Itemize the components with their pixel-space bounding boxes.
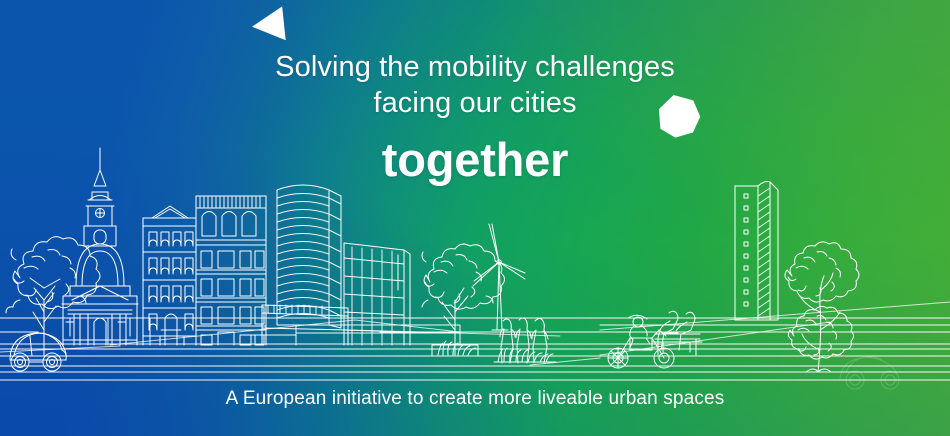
tagline: A European initiative to create more liv…	[0, 388, 950, 410]
modern-apartment-block	[196, 196, 266, 345]
street-tree-center	[422, 244, 505, 356]
cityscape-illustration	[0, 0, 950, 436]
classical-apartment-block	[143, 206, 196, 345]
mobility-campaign-banner: Solving the mobility challenges facing o…	[0, 0, 950, 436]
street-tree-right	[785, 242, 859, 372]
church-with-spire	[62, 148, 138, 345]
striped-high-rise-tower	[735, 182, 778, 321]
triangle-shape	[250, 6, 285, 43]
electric-pod-car	[10, 333, 66, 371]
ghost-car-right	[840, 357, 899, 389]
curved-glass-tower	[262, 185, 348, 345]
